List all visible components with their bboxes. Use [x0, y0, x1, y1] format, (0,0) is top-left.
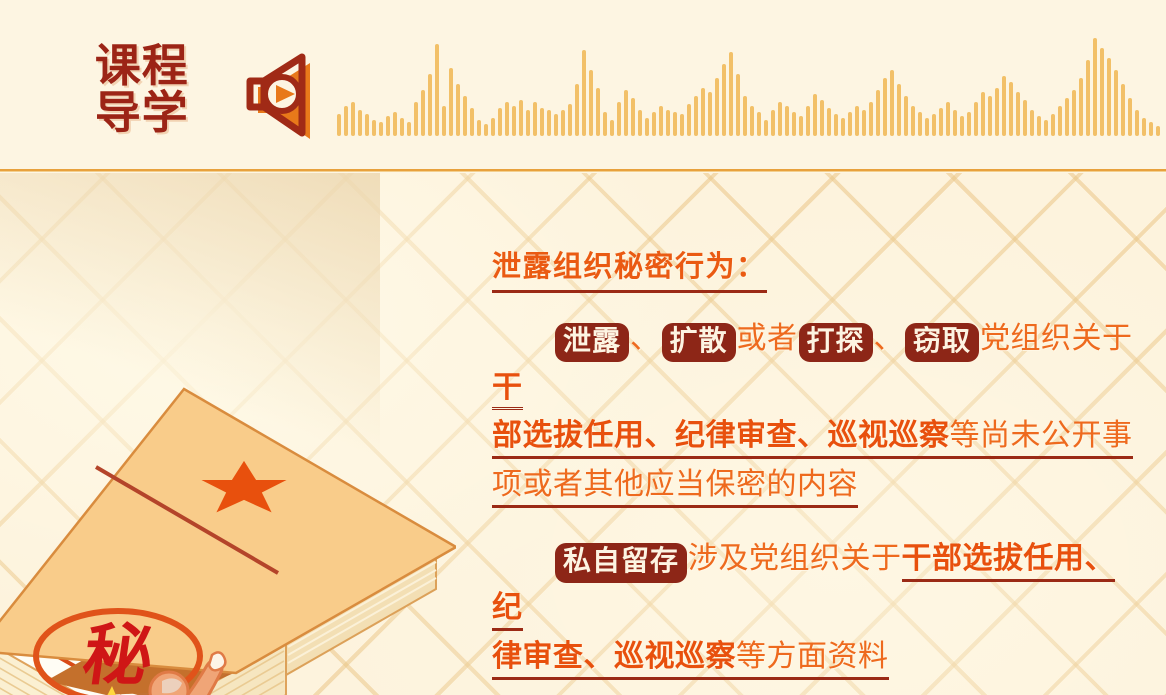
section-title: 泄露组织秘密行为：	[492, 243, 767, 293]
waveform-bar	[582, 50, 586, 136]
waveform-bar	[827, 108, 831, 136]
waveform-bar	[491, 118, 495, 136]
waveform-bar	[673, 112, 677, 136]
waveform-bar	[715, 78, 719, 136]
connector-3: 、	[874, 321, 905, 356]
waveform-bar	[351, 102, 355, 136]
waveform-bar	[946, 102, 950, 136]
waveform-bar	[736, 74, 740, 136]
tag-siziliucun: 私自留存	[555, 543, 687, 582]
header-bar: 课程 导学	[0, 0, 1166, 172]
waveform-bar	[778, 102, 782, 136]
waveform-bar	[680, 114, 684, 136]
plain-after-tags: 党组织关于	[980, 321, 1133, 356]
waveform-bar	[771, 110, 775, 136]
waveform-bar	[988, 96, 992, 136]
waveform-bar	[1065, 98, 1069, 136]
tag-xielou: 泄露	[555, 323, 629, 362]
waveform-bar	[372, 120, 376, 136]
waveform-bar	[1079, 78, 1083, 136]
waveform-bar	[897, 84, 901, 136]
waveform-bar	[729, 52, 733, 136]
brand-title-line2: 导学	[95, 91, 215, 135]
waveform-bar	[1037, 116, 1041, 136]
waveform-bar	[750, 106, 754, 136]
waveform-bar	[960, 116, 964, 136]
brand-title: 课程 导学	[96, 44, 214, 144]
waveform-bar	[1093, 38, 1097, 136]
waveform-bar	[1121, 84, 1125, 136]
waveform-bar	[358, 110, 362, 136]
waveform-bar	[547, 110, 551, 136]
svg-text:秘: 秘	[78, 618, 158, 695]
waveform-bar	[722, 64, 726, 136]
waveform-bar	[568, 104, 572, 136]
waveform-bar	[505, 102, 509, 136]
waveform-bar	[575, 84, 579, 136]
waveform-bar	[554, 114, 558, 136]
waveform-bar	[890, 70, 894, 136]
audio-waveform	[337, 24, 1127, 136]
plain-tail-2: 等方面资料	[736, 639, 889, 680]
plain-lead-2: 涉及党组织关于	[688, 541, 902, 576]
waveform-bar	[918, 112, 922, 136]
content-area: 秘	[0, 173, 1166, 695]
waveform-bar	[883, 78, 887, 136]
waveform-bar	[701, 88, 705, 136]
waveform-bar	[400, 118, 404, 136]
waveform-bar	[393, 112, 397, 136]
waveform-bar	[589, 70, 593, 136]
tag-kuosan: 扩散	[662, 323, 736, 362]
waveform-bar	[708, 92, 712, 136]
waveform-bar	[974, 102, 978, 136]
megaphone-play-icon	[228, 47, 324, 143]
waveform-bar	[694, 96, 698, 136]
waveform-bar	[526, 110, 530, 136]
waveform-bar	[855, 106, 859, 136]
waveform-bar	[792, 112, 796, 136]
waveform-bar	[1149, 122, 1153, 136]
waveform-bar	[337, 114, 341, 136]
waveform-bar	[764, 120, 768, 136]
waveform-bar	[806, 106, 810, 136]
paragraph-2: 私自留存涉及党组织关于干部选拔任用、纪律审查、巡视巡察等方面资料	[492, 535, 1142, 681]
waveform-bar	[785, 106, 789, 136]
plain-line2: 等尚未公开事	[950, 418, 1133, 459]
waveform-bar	[799, 116, 803, 136]
waveform-bar	[624, 90, 628, 136]
waveform-bar	[862, 110, 866, 136]
paragraph-1: 泄露、扩散或者打探、窃取党组织关于干部选拔任用、纪律审查、巡视巡察等尚未公开事项…	[492, 315, 1142, 509]
waveform-bar	[1023, 100, 1027, 136]
waveform-bar	[512, 106, 516, 136]
waveform-bar	[638, 110, 642, 136]
waveform-bar	[995, 88, 999, 136]
waveform-bar	[1051, 114, 1055, 136]
waveform-bar	[603, 112, 607, 136]
waveform-bar	[1058, 106, 1062, 136]
waveform-bar	[631, 98, 635, 136]
waveform-bar	[1002, 76, 1006, 136]
waveform-bar	[1128, 98, 1132, 136]
waveform-bar	[813, 94, 817, 136]
waveform-bar	[442, 106, 446, 136]
brand-title-line1: 课程	[95, 44, 215, 88]
waveform-bar	[379, 122, 383, 136]
document-illustration: 秘	[0, 351, 456, 695]
emphasis-tail-line1: 干	[492, 370, 523, 410]
waveform-bar	[428, 74, 432, 136]
waveform-bar	[414, 102, 418, 136]
waveform-bar	[407, 122, 411, 136]
tag-datan: 打探	[799, 323, 873, 362]
waveform-bar	[1135, 110, 1139, 136]
waveform-bar	[981, 92, 985, 136]
waveform-bar	[1016, 92, 1020, 136]
waveform-bar	[757, 112, 761, 136]
waveform-bar	[456, 84, 460, 136]
waveform-bar	[561, 110, 565, 136]
waveform-bar	[820, 100, 824, 136]
waveform-bar	[967, 112, 971, 136]
waveform-bar	[1156, 126, 1160, 136]
waveform-bar	[659, 106, 663, 136]
waveform-bar	[1072, 90, 1076, 136]
waveform-bar	[498, 108, 502, 136]
waveform-bar	[953, 110, 957, 136]
waveform-bar	[1100, 48, 1104, 136]
waveform-bar	[666, 110, 670, 136]
waveform-bar	[834, 114, 838, 136]
waveform-bar	[463, 96, 467, 136]
waveform-bar	[645, 118, 649, 136]
waveform-bar	[876, 90, 880, 136]
waveform-bar	[1107, 58, 1111, 136]
plain-line3: 项或者其他应当保密的内容	[492, 467, 858, 508]
waveform-bar	[386, 116, 390, 136]
waveform-bar	[932, 114, 936, 136]
waveform-bar	[1009, 82, 1013, 136]
waveform-bar	[1030, 110, 1034, 136]
emphasis-2-2: 律审查、巡视巡察	[492, 639, 736, 680]
waveform-bar	[743, 96, 747, 136]
waveform-bar	[848, 112, 852, 136]
waveform-bar	[652, 112, 656, 136]
text-content: 泄露组织秘密行为： 泄露、扩散或者打探、窃取党组织关于干部选拔任用、纪律审查、巡…	[492, 243, 1142, 681]
waveform-bar	[477, 120, 481, 136]
waveform-bar	[484, 124, 488, 136]
waveform-bar	[1044, 120, 1048, 136]
waveform-bar	[449, 68, 453, 136]
waveform-bar	[365, 114, 369, 136]
waveform-bar	[421, 90, 425, 136]
waveform-bar	[540, 108, 544, 136]
waveform-bar	[435, 44, 439, 136]
waveform-bar	[596, 88, 600, 136]
waveform-bar	[1142, 118, 1146, 136]
waveform-bar	[617, 102, 621, 136]
waveform-bar	[925, 118, 929, 136]
waveform-bar	[869, 102, 873, 136]
header-divider	[0, 169, 1166, 172]
waveform-bar	[911, 106, 915, 136]
connector-1: 、	[630, 321, 661, 356]
emphasis-line2: 部选拔任用、纪律审查、巡视巡察	[492, 418, 950, 459]
waveform-bar	[687, 104, 691, 136]
waveform-bar	[610, 120, 614, 136]
waveform-bar	[344, 106, 348, 136]
connector-2: 或者	[737, 321, 798, 356]
tag-qiequ: 窃取	[905, 323, 979, 362]
waveform-bar	[470, 108, 474, 136]
waveform-bar	[904, 96, 908, 136]
waveform-bar	[519, 100, 523, 136]
waveform-bar	[939, 108, 943, 136]
waveform-bar	[841, 118, 845, 136]
waveform-bar	[533, 102, 537, 136]
infographic-slide: 课程 导学	[0, 0, 1166, 695]
waveform-bar	[1086, 60, 1090, 136]
waveform-bar	[1114, 70, 1118, 136]
